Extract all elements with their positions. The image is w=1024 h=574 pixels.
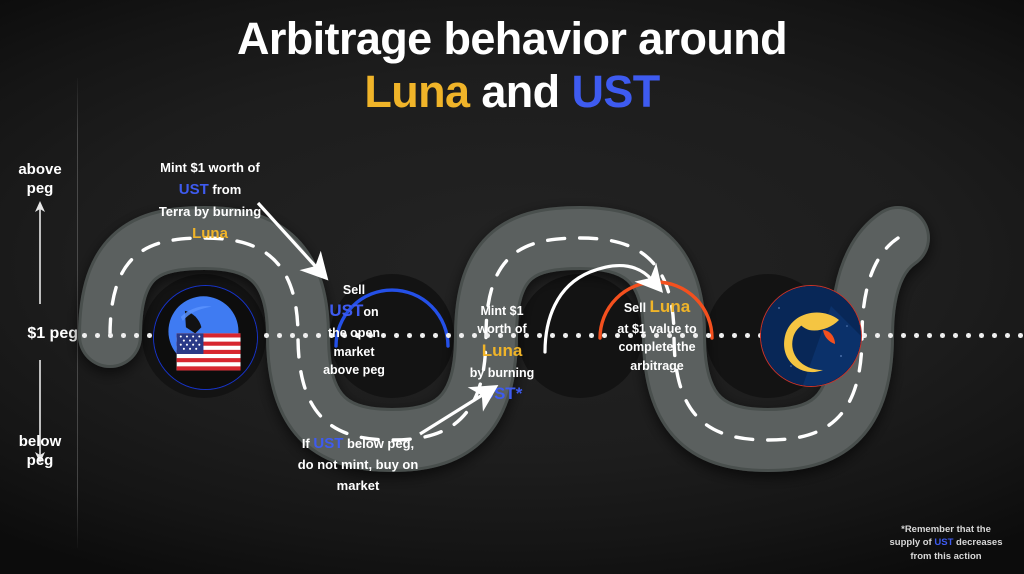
- footnote-line2-pre: supply of: [890, 537, 935, 548]
- footnote-line2-post: decreases: [953, 537, 1002, 548]
- callout-mint-ust-line3: Terra by burning: [140, 202, 280, 222]
- footnote-line2: supply of UST decreases: [882, 536, 1010, 550]
- callout-mint-ust-line2: UST from: [140, 178, 280, 201]
- callout-mint-ust: Mint $1 worth of UST from Terra by burni…: [140, 158, 280, 245]
- callout-below-peg-line3: market: [272, 476, 444, 496]
- footnote-line3: from this action: [882, 550, 1010, 564]
- footnote: *Remember that the supply of UST decreas…: [882, 523, 1010, 564]
- callout-below-peg-post: below peg,: [343, 436, 414, 451]
- footnote-line1: *Remember that the: [882, 523, 1010, 537]
- token-ust: UST: [934, 537, 953, 548]
- callout-below-peg: If UST below peg, do not mint, buy on ma…: [272, 432, 444, 496]
- infographic-canvas: Arbitrage behavior around Luna and UST a…: [0, 0, 1024, 574]
- callout-below-peg-line1: If UST below peg,: [272, 432, 444, 455]
- token-luna: Luna: [140, 222, 280, 245]
- token-ust: UST: [179, 181, 209, 198]
- callout-mint-ust-line2-rest: from: [209, 182, 242, 197]
- ust-dollar-emblem: [153, 285, 258, 390]
- callout-below-peg-pre: If: [302, 436, 314, 451]
- callout-below-peg-line2: do not mint, buy on: [272, 455, 444, 475]
- luna-terra-emblem: [760, 285, 862, 387]
- callout-mint-ust-line1: Mint $1 worth of: [140, 158, 280, 178]
- token-ust: UST: [313, 435, 343, 452]
